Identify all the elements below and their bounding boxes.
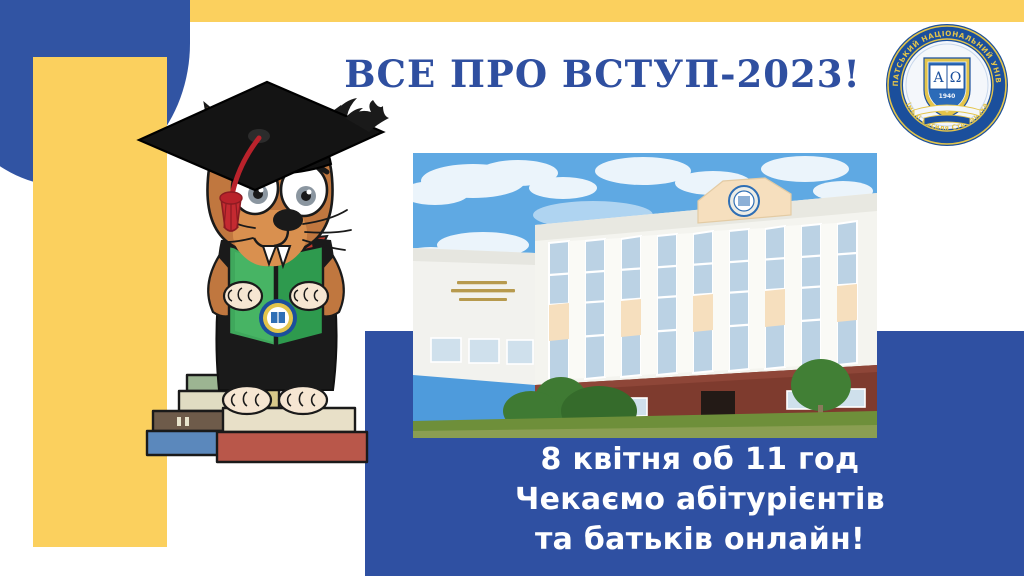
university-seal: ПРИКАРПАТСЬКИЙ НАЦІОНАЛЬНИЙ УНІВЕРСИТЕТ …: [884, 22, 1010, 148]
seal-omega-letter: Ω: [950, 70, 962, 86]
lynx-graduate-mascot: [95, 60, 400, 480]
university-building-photo: [413, 153, 877, 438]
building-sign: [451, 281, 515, 301]
caption-line-3: та батьків онлайн!: [420, 520, 980, 560]
page-title: ВСЕ ПРО ВСТУП-2023!: [330, 52, 875, 96]
book-emblem: [259, 299, 297, 337]
caption-line-2: Чекаємо абітурієнтів: [420, 480, 980, 520]
caption-line-1: 8 квітня об 11 год: [420, 440, 980, 480]
decor-top-yellow-band: [190, 0, 1024, 22]
seal-alpha-letter: Α: [932, 70, 944, 86]
event-caption: 8 квітня об 11 год Чекаємо абітурієнтів …: [420, 440, 980, 560]
seal-year: 1940: [939, 93, 956, 100]
poster-canvas: ВСЕ ПРО ВСТУП-2023! ПРИКАРПАТСЬКИЙ НАЦІО…: [0, 0, 1024, 576]
